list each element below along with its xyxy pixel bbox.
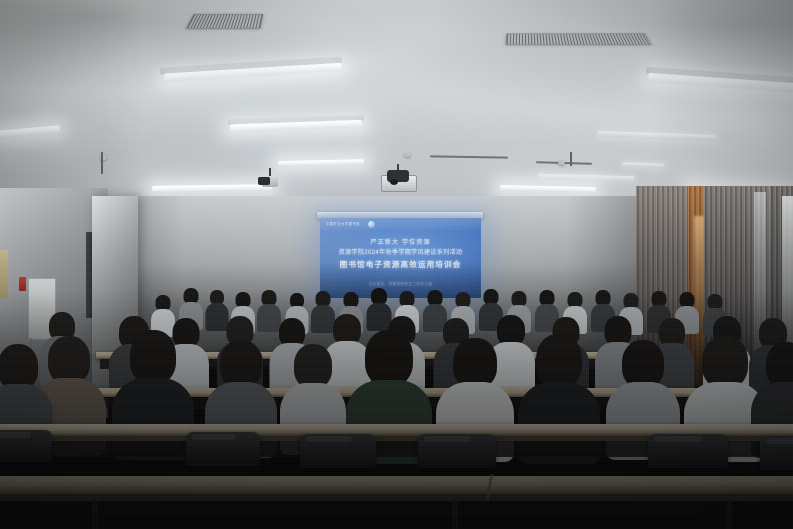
head <box>365 330 413 386</box>
projection-screen-dimming <box>320 218 481 298</box>
head <box>294 344 332 388</box>
desk-leg-2 <box>452 500 458 529</box>
head <box>220 340 262 388</box>
chair-6 <box>0 430 52 462</box>
head <box>130 330 176 384</box>
chair-1 <box>186 432 260 466</box>
head <box>536 334 582 388</box>
desk-leg-1 <box>92 500 98 529</box>
chair-3 <box>418 434 496 468</box>
chair-4 <box>648 434 728 468</box>
head <box>622 340 664 388</box>
head <box>702 336 748 388</box>
head <box>48 336 90 384</box>
desk-leg-3 <box>726 500 732 529</box>
chair-2 <box>300 434 376 468</box>
head <box>453 338 497 388</box>
classroom-photo: 中国矿业大学图书馆 严正新大 学位资源 资源学院2024年秋季学期学风建设系列活… <box>0 0 793 529</box>
desk-row-closest <box>0 476 793 496</box>
ceiling-shading <box>0 0 793 214</box>
chair-5 <box>760 436 793 470</box>
desk-row-closest-shelf <box>0 501 793 529</box>
